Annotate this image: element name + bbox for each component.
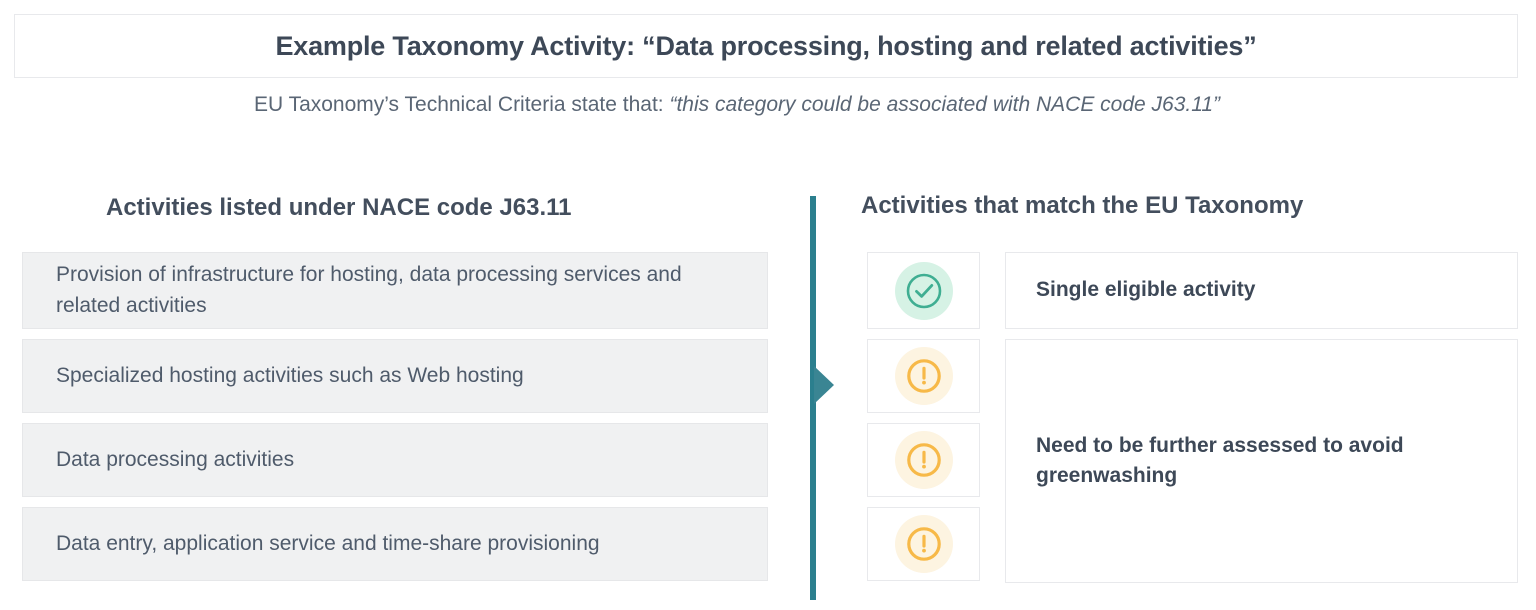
right-column-heading: Activities that match the EU Taxonomy bbox=[861, 192, 1303, 220]
exclamation-circle-icon bbox=[895, 347, 953, 405]
result-text-column: Single eligible activity Need to be furt… bbox=[1005, 252, 1518, 593]
infographic-page: Example Taxonomy Activity: “Data process… bbox=[0, 0, 1536, 610]
title-banner: Example Taxonomy Activity: “Data process… bbox=[14, 14, 1518, 78]
list-item: Data entry, application service and time… bbox=[22, 507, 768, 581]
page-title: Example Taxonomy Activity: “Data process… bbox=[275, 31, 1256, 62]
status-icon-cell bbox=[867, 423, 980, 497]
right-arrow-icon bbox=[814, 366, 834, 404]
check-circle-icon bbox=[895, 262, 953, 320]
left-column-heading: Activities listed under NACE code J63.11 bbox=[106, 194, 572, 222]
result-box-eligible: Single eligible activity bbox=[1005, 252, 1518, 329]
list-item: Data processing activities bbox=[22, 423, 768, 497]
list-item: Provision of infrastructure for hosting,… bbox=[22, 252, 768, 329]
status-icon-cell bbox=[867, 339, 980, 413]
nace-activity-list: Provision of infrastructure for hosting,… bbox=[22, 252, 768, 591]
subtitle-lead: EU Taxonomy’s Technical Criteria state t… bbox=[254, 93, 670, 116]
list-item: Specialized hosting activities such as W… bbox=[22, 339, 768, 413]
status-icon-cell bbox=[867, 252, 980, 329]
exclamation-circle-icon bbox=[895, 431, 953, 489]
result-box-assessment: Need to be further assessed to avoid gre… bbox=[1005, 339, 1518, 583]
exclamation-circle-icon bbox=[895, 515, 953, 573]
subtitle-quote: “this category could be associated with … bbox=[669, 93, 1220, 116]
status-icon-cell bbox=[867, 507, 980, 581]
subtitle: EU Taxonomy’s Technical Criteria state t… bbox=[0, 93, 1474, 117]
status-icon-column bbox=[867, 252, 980, 591]
